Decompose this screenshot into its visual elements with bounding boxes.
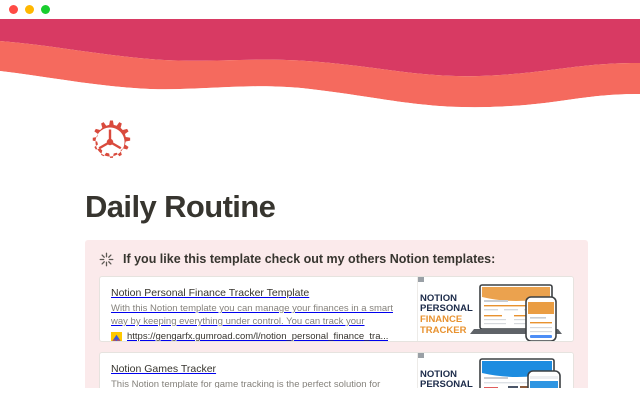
bookmark-url: https://gengarfx.gumroad.com/l/notion_pe… [127, 331, 388, 341]
callout-header: If you like this template check out my o… [99, 251, 574, 267]
svg-text:FINANCE: FINANCE [420, 314, 462, 325]
bookmark-link-row: PDF https://gengarfx.gumroad.com/l/notio… [111, 331, 407, 341]
callout-title: If you like this template check out my o… [123, 251, 495, 267]
bookmark-text: Notion Personal Finance Tracker Template… [100, 277, 417, 341]
callout-block[interactable]: If you like this template check out my o… [85, 240, 588, 400]
page-content: Daily Routine If you like this template … [0, 115, 640, 400]
page-cover-banner[interactable] [0, 19, 640, 115]
page-icon[interactable] [86, 118, 134, 166]
svg-text:PERSONAL: PERSONAL [420, 303, 473, 314]
notion-personal-finance-tracker-thumbnail-icon: NOTION PERSONAL FINANCE TRACKER [418, 277, 573, 341]
svg-text:TRACKER: TRACKER [420, 325, 467, 336]
minimize-button[interactable] [25, 5, 34, 14]
svg-text:PDF: PDF [113, 339, 121, 341]
bookmark-description: With this Notion template you can manage… [111, 302, 407, 328]
maximize-button[interactable] [41, 5, 50, 14]
gear-icon [86, 118, 134, 166]
sparkle-icon [99, 252, 114, 267]
bookmark-title: Notion Personal Finance Tracker Template [111, 286, 407, 300]
close-button[interactable] [9, 5, 18, 14]
bookmark-card[interactable]: Notion Personal Finance Tracker Template… [99, 276, 574, 342]
bookmark-thumbnail: NOTION PERSONAL FINANCE TRACKER [417, 277, 573, 341]
bookmark-title: Notion Games Tracker [111, 362, 407, 376]
page-title[interactable]: Daily Routine [85, 188, 275, 226]
window-titlebar [0, 0, 640, 19]
gumroad-favicon: PDF [111, 332, 122, 342]
bottom-white-strip [0, 388, 640, 400]
wave-banner-icon [0, 19, 640, 115]
